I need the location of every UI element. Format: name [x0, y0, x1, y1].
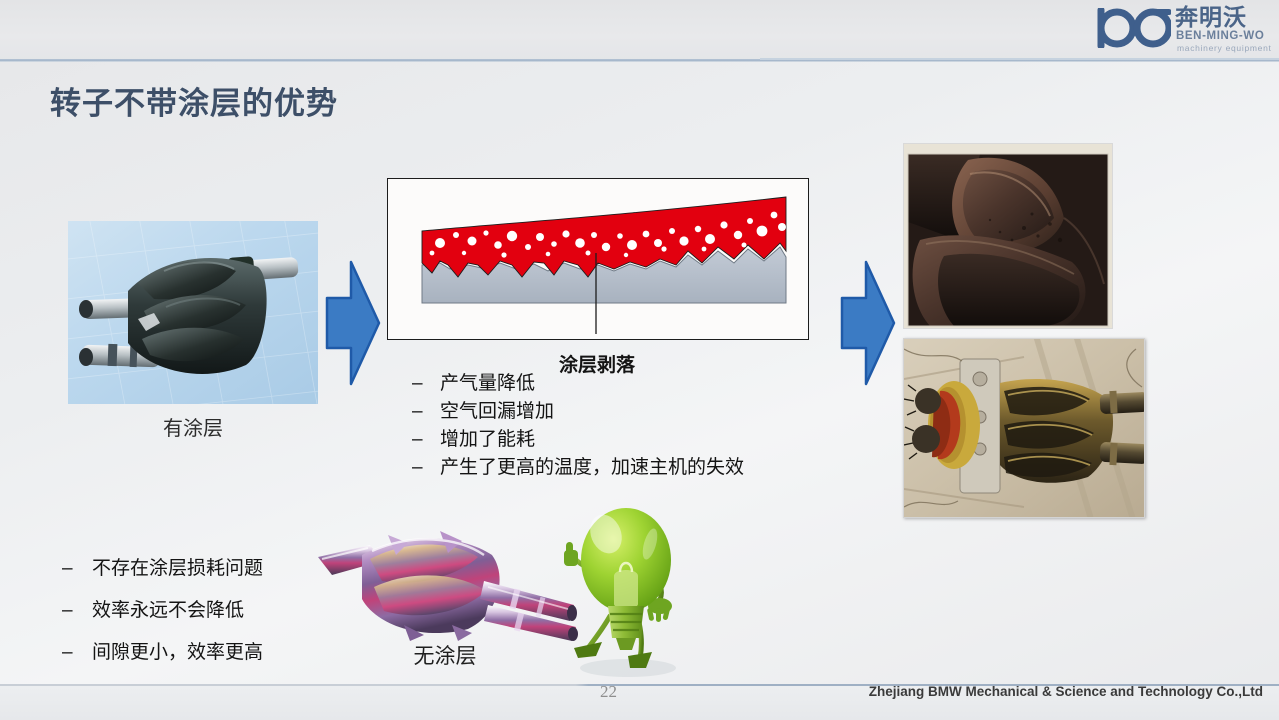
green-lightbulb-thumbs-up-character [562, 498, 692, 684]
company-logo: 奔明沃 BEN-MING-WO machinery equipment [1097, 4, 1267, 58]
page-title: 转子不带涂层的优势 [50, 78, 338, 123]
bullet-marker: – [62, 548, 92, 590]
uncoated-advantages-list: – 不存在涂层损耗问题 – 效率永远不会降低 – 间隙更小，效率更高 [62, 548, 263, 674]
footer-company-name: Zhejiang BMW Mechanical & Science and Te… [869, 684, 1263, 699]
bullet-text: 增加了能耗 [440, 426, 535, 454]
bullet-marker: – [62, 590, 92, 632]
logo-chinese-name: 奔明沃 [1175, 5, 1247, 29]
bullet-text: 不存在涂层损耗问题 [92, 548, 263, 590]
coated-screw-rotor-photo [68, 221, 318, 404]
logo-english-name: BEN-MING-WO [1176, 30, 1264, 42]
page-number: 22 [600, 682, 617, 702]
uncoated-polished-rotor-photo [312, 521, 580, 646]
header-band [0, 0, 1279, 61]
list-item: – 效率永远不会降低 [62, 590, 263, 632]
bullet-text: 间隙更小，效率更高 [92, 632, 263, 674]
logo-tagline: machinery equipment [1177, 43, 1272, 53]
bullet-text: 产气量降低 [440, 370, 535, 398]
bullet-text: 产生了更高的温度，加速主机的失效 [440, 454, 744, 482]
coating-problem-list: – 产气量降低 – 空气回漏增加 – 增加了能耗 – 产生了更高的温度，加速主机… [412, 370, 744, 482]
list-item: – 产气量降低 [412, 370, 744, 398]
list-item: – 不存在涂层损耗问题 [62, 548, 263, 590]
uncoated-rotor-label: 无涂层 [330, 640, 560, 670]
bullet-marker: – [412, 426, 440, 454]
blue-right-arrow-icon-1 [325, 258, 381, 388]
list-item: – 间隙更小，效率更高 [62, 632, 263, 674]
list-item: – 增加了能耗 [412, 426, 744, 454]
blue-right-arrow-icon-2 [840, 258, 896, 388]
coating-delamination-diagram [387, 178, 809, 340]
list-item: – 空气回漏增加 [412, 398, 744, 426]
header-divider-highlight [760, 58, 1279, 60]
damaged-rotor-closeup-photo [903, 143, 1113, 329]
disassembled-rotor-assembly-photo [903, 338, 1145, 518]
list-item: – 产生了更高的温度，加速主机的失效 [412, 454, 744, 482]
bullet-marker: – [412, 398, 440, 426]
coated-rotor-label: 有涂层 [68, 412, 318, 441]
bullet-text: 效率永远不会降低 [92, 590, 244, 632]
bullet-text: 空气回漏增加 [440, 398, 554, 426]
bullet-marker: – [62, 632, 92, 674]
bo-monogram-icon [1097, 8, 1171, 48]
bullet-marker: – [412, 370, 440, 398]
presentation-slide: 奔明沃 BEN-MING-WO machinery equipment 转子不带… [0, 0, 1279, 720]
bullet-marker: – [412, 454, 440, 482]
